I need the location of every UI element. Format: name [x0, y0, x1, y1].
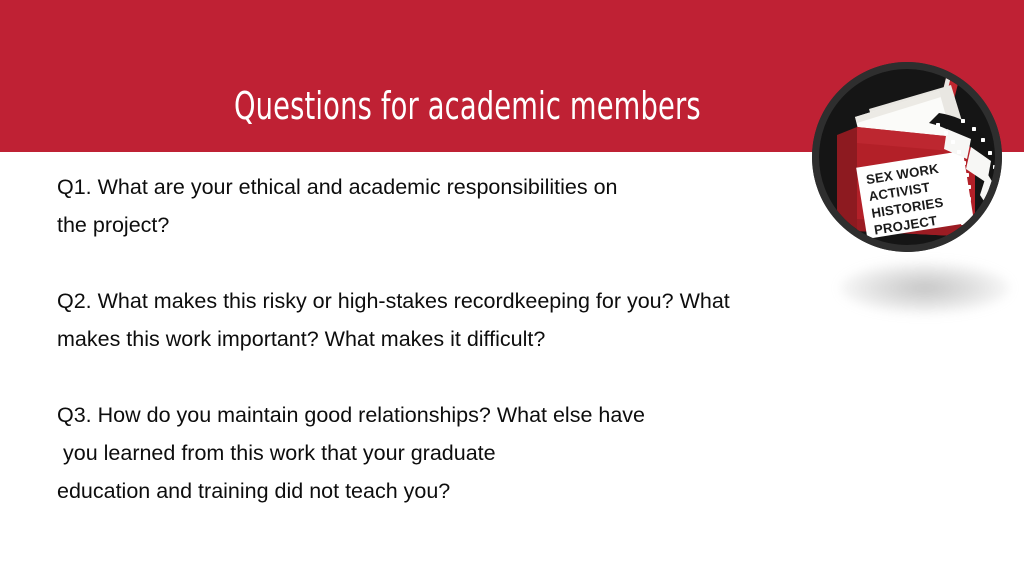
question-item-q1: Q1. What are your ethical and academic r… — [57, 168, 877, 244]
page-title: Questions for academic members — [93, 84, 841, 128]
question-item-q3: Q3. How do you maintain good relationshi… — [57, 396, 877, 510]
questions-list: Q1. What are your ethical and academic r… — [57, 168, 877, 510]
slide-canvas: Questions for academic members — [0, 0, 1024, 576]
question-item-q2: Q2. What makes this risky or high-stakes… — [57, 282, 877, 358]
